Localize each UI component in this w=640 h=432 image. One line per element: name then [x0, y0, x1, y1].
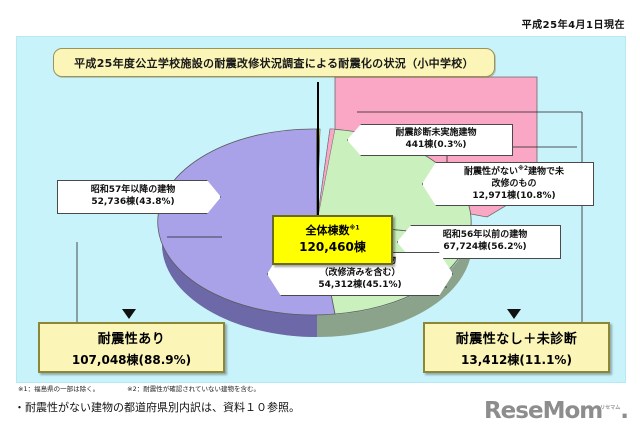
callout-before-showa56-line1: 昭和56年以前の建物: [443, 230, 528, 242]
callout-undiagnosed: 耐震診断未実施建物 441棟(0.3%): [347, 124, 513, 156]
total-label: 全体棟数※1: [305, 224, 359, 239]
survey-date: 平成25年4月1日現在: [0, 16, 625, 31]
summary-right-value: 13,412棟(11.1%): [461, 351, 572, 368]
callout-non-resistant-line1: 耐震性がない※2建物で未: [464, 165, 564, 179]
summary-right-label: 耐震性なし＋未診断: [456, 328, 578, 347]
callout-before-showa56-line2: 67,724棟(56.2%): [443, 242, 526, 254]
summary-box-resistant: 耐震性あり 107,048棟(88.9%): [38, 322, 225, 373]
footnotes: ※1：福島県の一部は除く。 ※2：耐震性が確認されていない建物を含む。: [18, 383, 260, 393]
infographic-root: 平成25年4月1日現在: [0, 0, 640, 432]
bottom-note: ・耐震性がない建物の都道府県別内訳は、資料１０参照。: [14, 399, 300, 415]
callout-undiagnosed-line1: 耐震診断未実施建物: [395, 128, 476, 140]
callout-resistant-line3: 54,312棟(45.1%): [318, 280, 401, 292]
slide-panel: 平成25年度公立学校施設の耐震改修状況調査による耐震化の状況（小中学校） 耐震診…: [16, 36, 626, 383]
summary-left-value: 107,048棟(88.9%): [72, 351, 191, 368]
logo-dot: .: [620, 398, 628, 424]
logo-text: ReseMom: [484, 398, 602, 424]
callout-non-resistant: 耐震性がない※2建物で未 改修のもの 12,971棟(10.8%): [422, 162, 594, 206]
total-value: 120,460棟: [299, 239, 366, 255]
logo-ruby: リセマム: [600, 405, 620, 411]
chart-title-text: 平成25年度公立学校施設の耐震改修状況調査による耐震化の状況（小中学校）: [74, 55, 474, 71]
summary-left-label: 耐震性あり: [98, 328, 166, 347]
callout-after-showa57: 昭和57年以降の建物 52,736棟(43.8%): [57, 180, 221, 214]
footnote-1: ※1：福島県の一部は除く。: [18, 385, 99, 393]
footnote-marker-1: ※1: [349, 225, 359, 232]
total-buildings-box: 全体棟数※1 120,460棟: [272, 215, 393, 265]
chart-title: 平成25年度公立学校施設の耐震改修状況調査による耐震化の状況（小中学校）: [53, 48, 495, 77]
callout-resistant-line2: （改修済みを含む）: [319, 268, 400, 280]
footnote-marker-2: ※2: [518, 165, 528, 172]
callout-non-resistant-line3: 12,971棟(10.8%): [472, 191, 555, 203]
callout-undiagnosed-line2: 441棟(0.3%): [406, 140, 467, 152]
down-arrow-right-icon: [507, 309, 521, 319]
down-arrow-left-icon: [122, 309, 136, 319]
callout-non-resistant-line2: 改修のもの: [491, 179, 536, 191]
callout-after-showa57-line2: 52,736棟(43.8%): [91, 197, 174, 209]
callout-after-showa57-line1: 昭和57年以降の建物: [91, 185, 176, 197]
summary-box-non-resistant: 耐震性なし＋未診断 13,412棟(11.1%): [423, 322, 610, 373]
resemom-logo: ReseMomリセマム.: [484, 398, 628, 424]
footnote-2: ※2：耐震性が確認されていない建物を含む。: [127, 385, 260, 393]
